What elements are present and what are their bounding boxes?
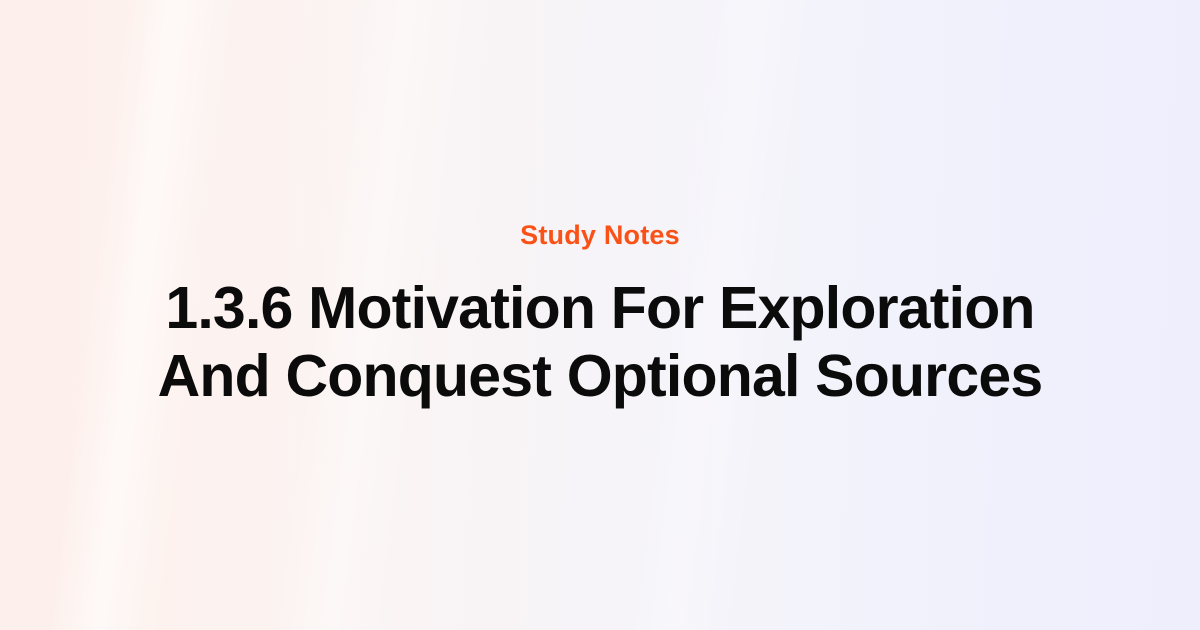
card-eyebrow-label: Study Notes: [108, 219, 1092, 251]
card-content: Study Notes 1.3.6 Motivation For Explora…: [60, 219, 1140, 410]
page-title: 1.3.6 Motivation For Exploration And Con…: [108, 274, 1092, 411]
share-card: Study Notes 1.3.6 Motivation For Explora…: [0, 0, 1200, 630]
